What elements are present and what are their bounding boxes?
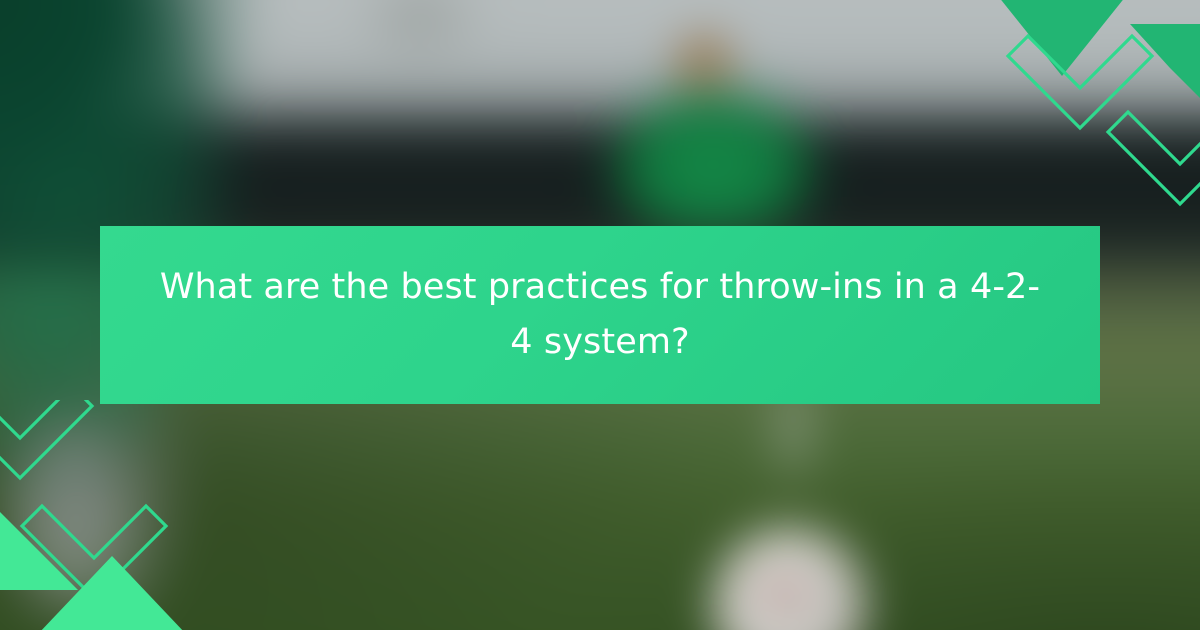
question-card: What are the best practices for throw-in… bbox=[0, 0, 1200, 630]
question-title: What are the best practices for throw-in… bbox=[154, 260, 1046, 371]
question-banner: What are the best practices for throw-in… bbox=[100, 226, 1100, 404]
